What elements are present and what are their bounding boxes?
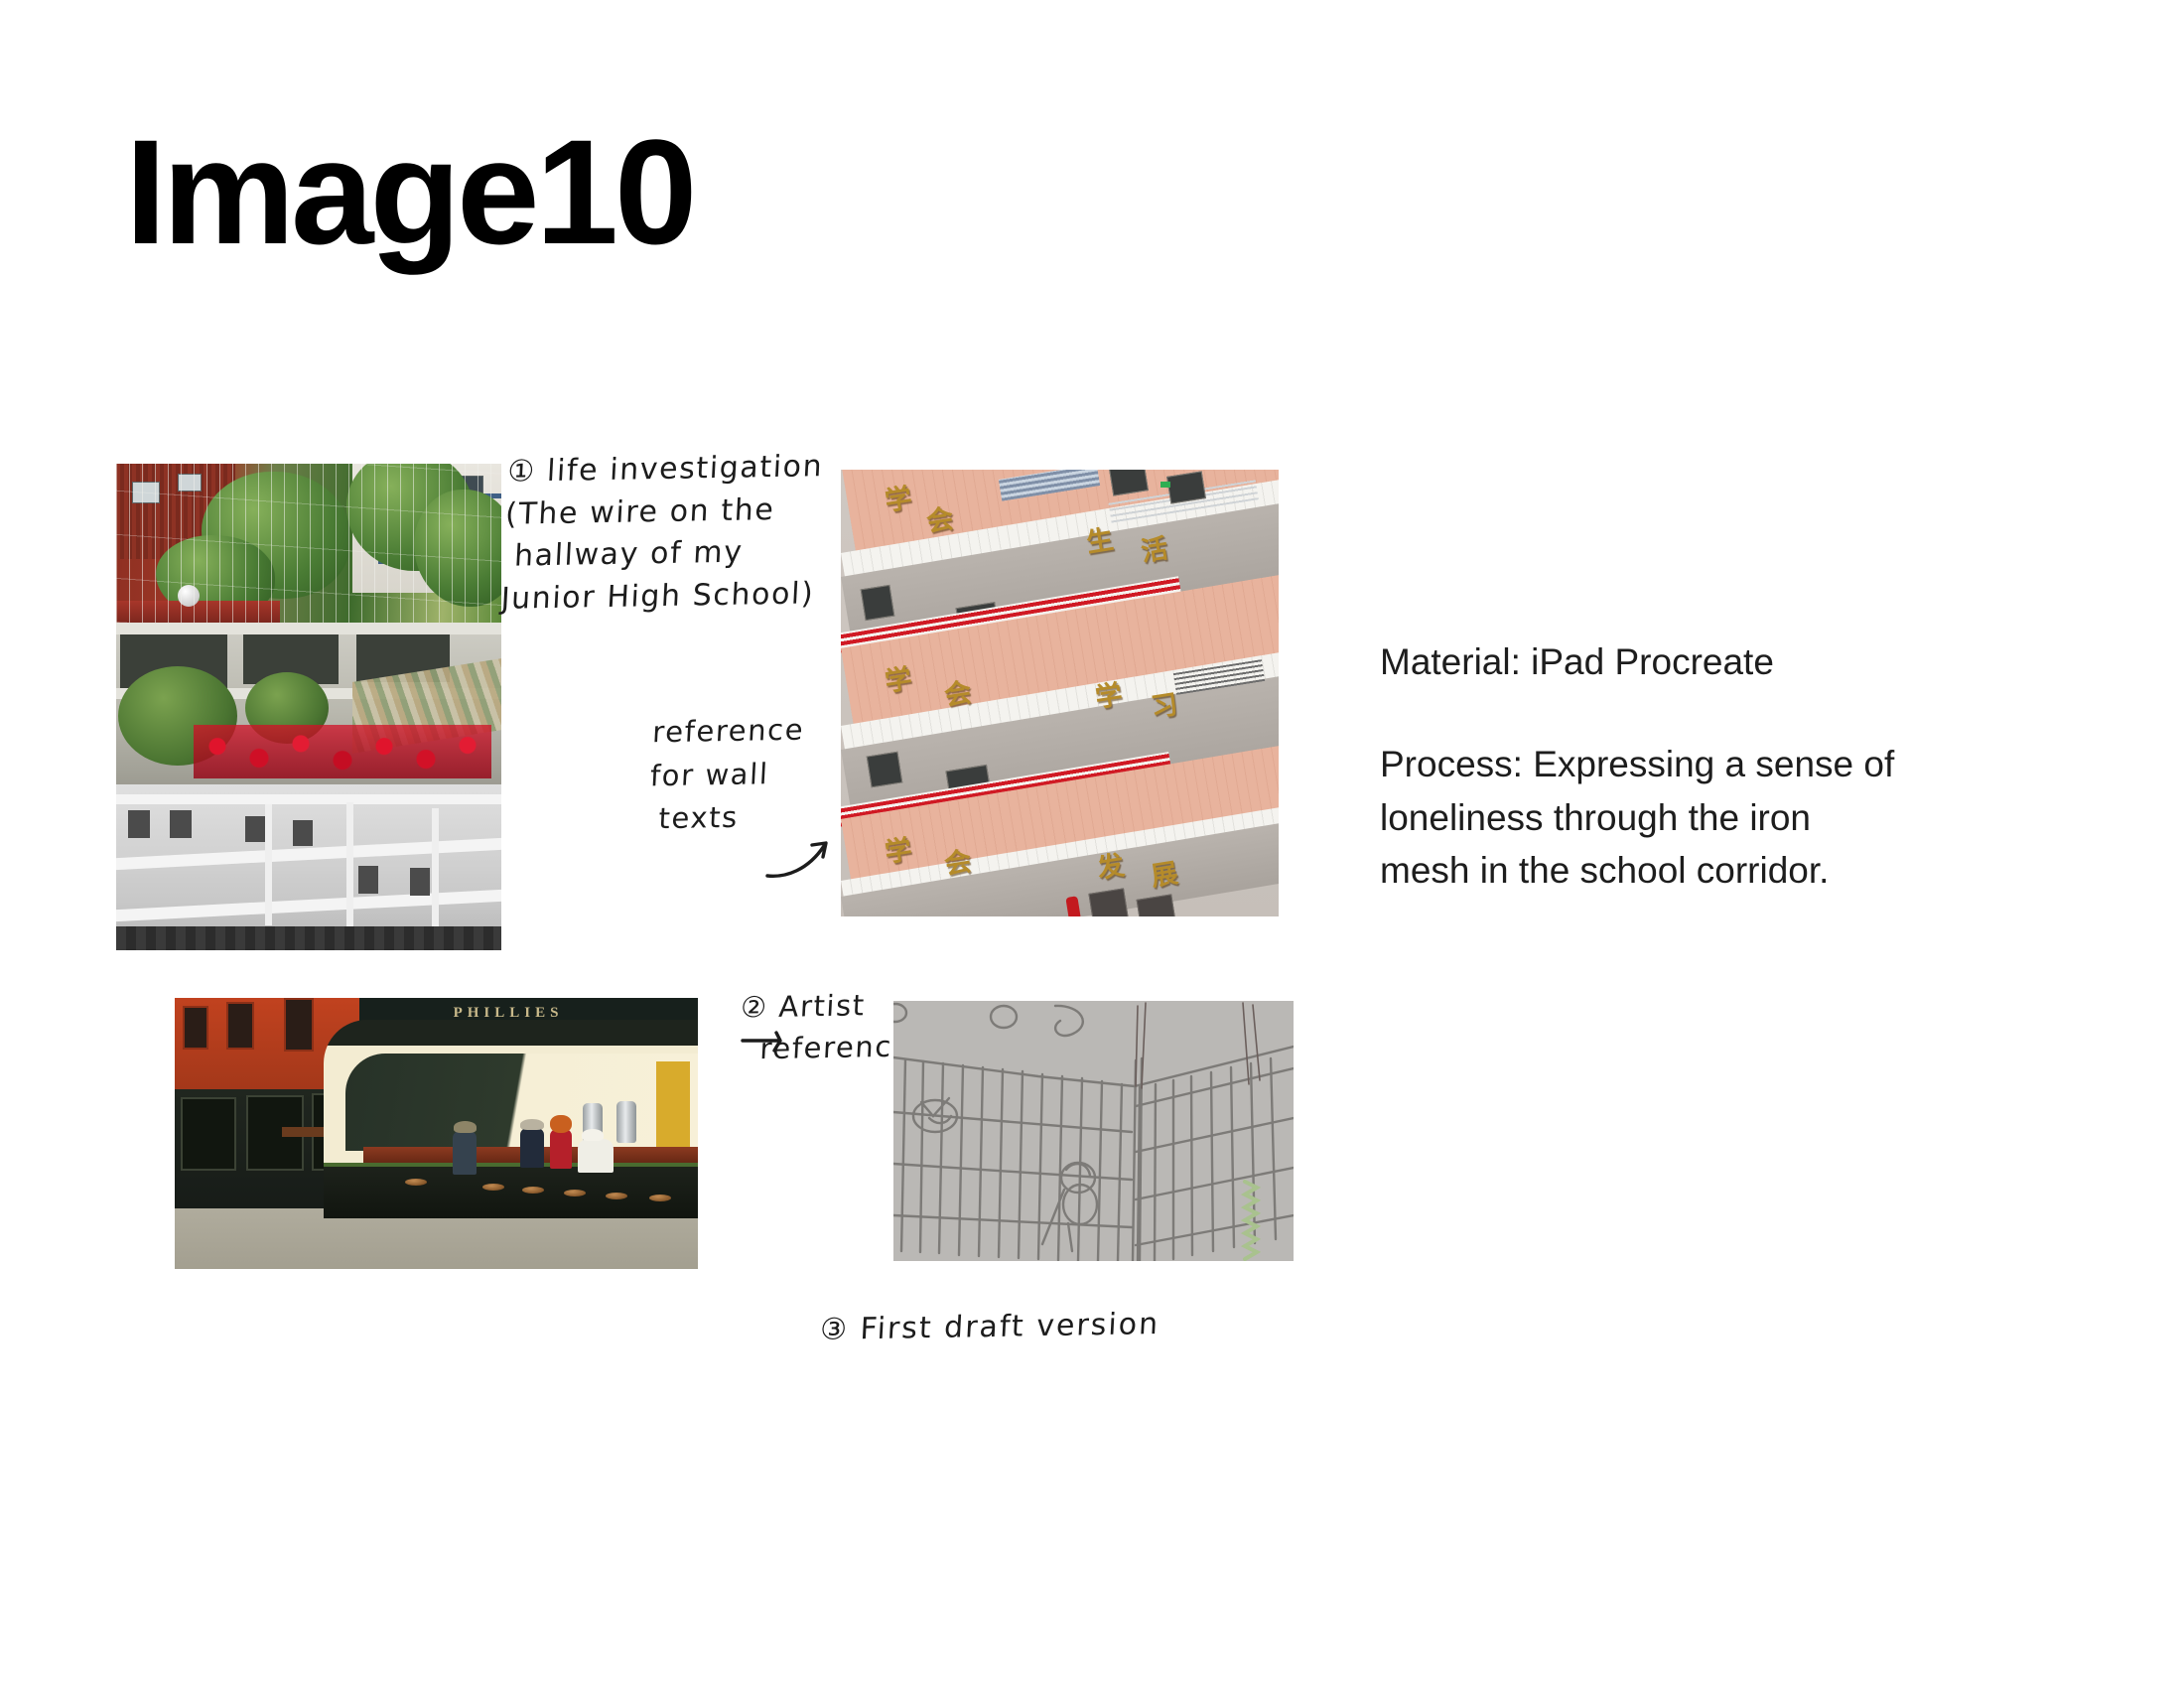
material-line: Material: iPad Procreate xyxy=(1380,635,2075,688)
cap xyxy=(582,1129,604,1141)
window xyxy=(284,998,314,1052)
process-line-1: Process: Expressing a sense of xyxy=(1380,738,2075,790)
curved-arrow-right-icon xyxy=(764,834,834,880)
hat xyxy=(520,1119,544,1130)
window xyxy=(410,868,430,896)
nighthawks-painting: PHILLIES xyxy=(175,998,698,1269)
window xyxy=(867,752,903,788)
window xyxy=(861,585,895,621)
collage-cell-flowers xyxy=(116,623,501,784)
floor-beam xyxy=(116,890,501,921)
figure-counterman xyxy=(578,1139,614,1173)
school-building-photo: 学 会 生 活 学 会 学 习 学 会 发 展 xyxy=(841,470,1279,916)
shop-window xyxy=(181,1097,236,1171)
info-panel: Material: iPad Procreate Process: Expres… xyxy=(1380,635,2075,897)
column xyxy=(346,802,353,927)
spacer xyxy=(1380,688,2075,738)
window xyxy=(128,810,150,838)
stool xyxy=(649,1195,671,1201)
phillies-sign: PHILLIES xyxy=(409,1000,608,1026)
door xyxy=(1088,888,1129,916)
figure-man-suit xyxy=(520,1128,544,1168)
red-flower-strip xyxy=(116,926,501,950)
window xyxy=(358,866,378,894)
hair xyxy=(550,1115,572,1133)
page-title: Image10 xyxy=(125,117,693,266)
process-line-3: mesh in the school corridor. xyxy=(1380,844,2075,897)
roof-beam xyxy=(116,794,501,804)
column xyxy=(265,804,272,925)
stool xyxy=(405,1179,427,1186)
sketch-strokes xyxy=(893,1001,1294,1261)
left-photo-collage xyxy=(116,464,501,950)
wire-mesh-overlay xyxy=(116,464,501,623)
hat xyxy=(454,1121,477,1133)
collage-cell-courtyard xyxy=(116,464,501,623)
window xyxy=(1166,471,1206,503)
process-line-2: loneliness through the iron xyxy=(1380,791,2075,844)
yellow-door xyxy=(656,1061,690,1147)
stool xyxy=(606,1193,627,1199)
figure-woman-red-dress xyxy=(550,1129,572,1169)
diner-base xyxy=(324,1167,698,1218)
first-draft-sketch xyxy=(893,1001,1294,1261)
note-life-investigation: ① life investigation (The wire on the ha… xyxy=(500,446,825,621)
red-flower-bed xyxy=(194,725,491,778)
shop-counter xyxy=(282,1127,328,1137)
window xyxy=(293,820,313,846)
window xyxy=(170,810,192,838)
note-first-draft-version: ③ First draft version xyxy=(819,1304,1160,1352)
window xyxy=(226,1002,254,1050)
window xyxy=(183,1006,208,1050)
window xyxy=(245,816,265,842)
note-wall-texts-reference: reference for wall texts xyxy=(647,709,806,841)
concrete-slab xyxy=(116,623,501,634)
coffee-urn xyxy=(616,1101,636,1143)
figure-lone-man xyxy=(453,1131,477,1175)
collage-cell-corridor xyxy=(116,784,501,950)
stool xyxy=(522,1187,544,1194)
column xyxy=(432,808,439,927)
stool xyxy=(482,1184,504,1191)
arrow-left-icon xyxy=(737,1031,782,1058)
stool xyxy=(564,1190,586,1196)
exit-sign xyxy=(1160,482,1170,488)
